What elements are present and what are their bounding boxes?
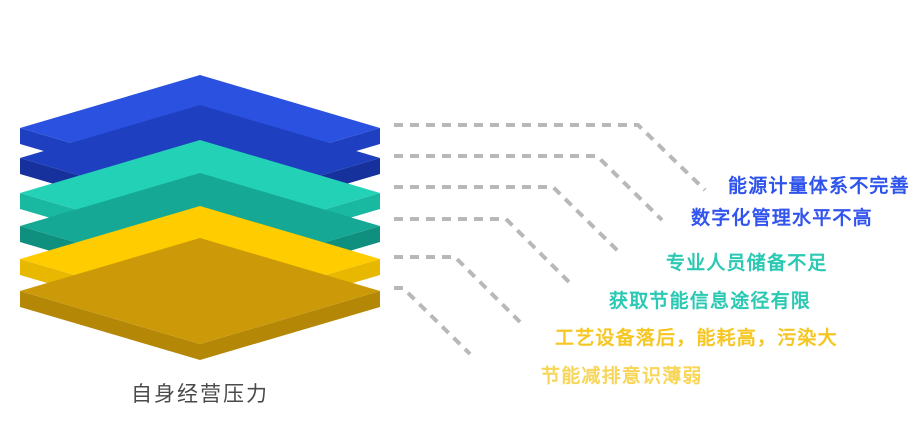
stack-caption: 自身经营压力: [0, 378, 400, 408]
connector-line-1: [394, 125, 705, 190]
connector-line-6: [394, 288, 470, 354]
item-label-5: 工艺设备落后，能耗高，污染大: [555, 329, 838, 348]
item-label-1: 能源计量体系不完善: [728, 177, 910, 196]
connector-line-4: [394, 219, 572, 285]
connector-line-5: [394, 257, 520, 322]
item-label-4: 获取节能信息途径有限: [609, 292, 811, 311]
connector-lines-group: [394, 125, 705, 354]
item-label-6: 节能减排意识薄弱: [541, 367, 703, 386]
layer-plates-group: [20, 75, 380, 360]
infographic-canvas: 自身经营压力 能源计量体系不完善数字化管理水平不高专业人员储备不足获取节能信息途…: [0, 0, 924, 448]
item-label-3: 专业人员储备不足: [666, 254, 828, 273]
item-label-2: 数字化管理水平不高: [691, 209, 873, 228]
